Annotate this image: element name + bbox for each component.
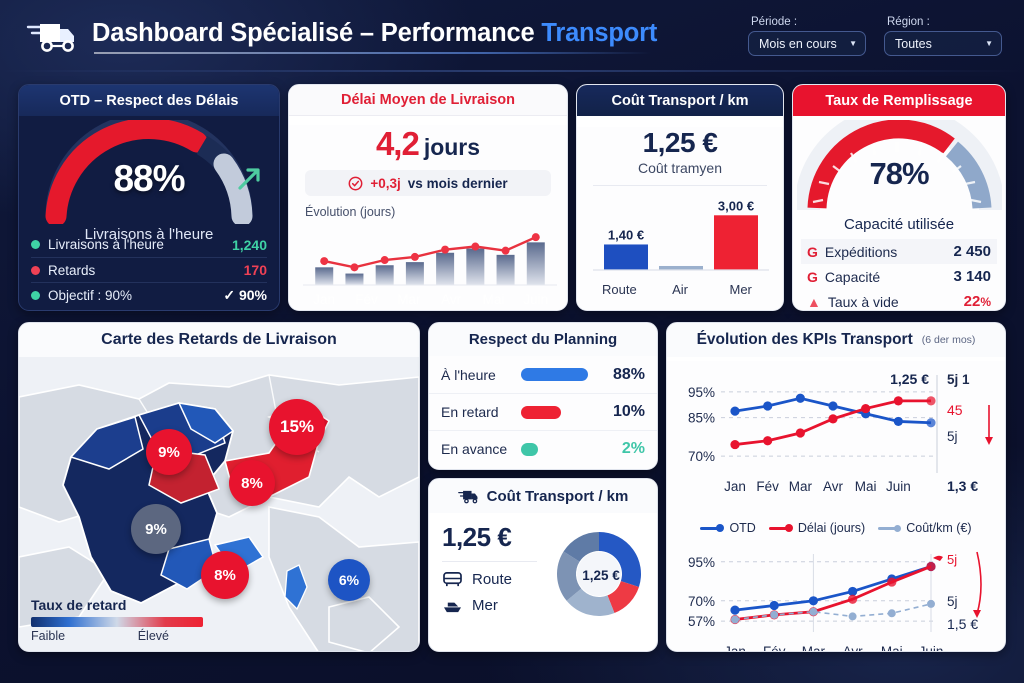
map-marker[interactable]: 15% [269,399,325,455]
divider [593,185,767,186]
legend-dot [785,524,793,532]
planning-card-title: Respect du Planning [429,323,657,356]
planning-progress-fill [521,443,538,456]
planning-progress-track [521,443,597,456]
map-marker[interactable]: 9% [146,429,192,475]
map-marker[interactable]: 8% [229,460,275,506]
list-item: G Expéditions 2 450 [801,239,997,264]
truck-icon [26,16,82,56]
delai-mini-chart [303,221,555,291]
dashboard-root: Dashboard Spécialisé – Performance Trans… [0,0,1024,683]
svg-text:3,00 €: 3,00 € [718,198,754,213]
map-marker-value: 9% [145,521,167,538]
planning-progress-fill [521,406,561,419]
delai-x-axis: Jan Fév Mar Avr Mai Juin [303,292,557,307]
cout-value: 1,25 € [577,127,783,159]
evolution-card-title-text: Évolution des KPIs Transport [697,331,913,349]
planning-card: Respect du Planning À l'heure 88% En ret… [428,322,658,470]
map-legend-low: Faible [31,629,65,643]
map-card-title: Carte des Retards de Livraison [19,323,419,357]
svg-text:Jan: Jan [724,479,746,494]
map-card: Carte des Retards de Livraison [18,322,420,652]
x-tick: Mar [388,292,430,307]
legend-item-otd: OTD [700,521,755,535]
remplissage-gauge-value-group: 78% [793,156,1005,192]
capacity-icon: G [807,269,818,285]
x-tick: Mer [710,282,771,297]
map-legend-gradient [31,617,203,627]
evolution-top-chart: 70%85%95%JanFévMarAvrMaiJuin1,25 €5j 145… [671,361,999,518]
svg-text:5j: 5j [947,552,957,567]
x-tick: Air [650,282,711,297]
list-item: Livraisons à l'heure 1,240 [31,232,267,257]
map-marker-value: 8% [214,567,236,584]
delai-delta-text: vs mois dernier [408,176,508,191]
list-item: G Capacité 3 140 [801,264,997,289]
map-legend: Taux de retard Faible Élevé [31,597,203,643]
x-tick: Juin [515,292,557,307]
x-tick: Fév [345,292,387,307]
evolution-card: Évolution des KPIs Transport (6 der mos)… [666,322,1006,652]
kpi-card-remplissage: Taux de Remplissage [792,84,1006,311]
svg-text:1,3 €: 1,3 € [947,478,978,494]
otd-row-label: Livraisons à l'heure [48,237,232,252]
cout-donut-center-label: 1,25 € [545,568,657,583]
cout-donut-card: Coût Transport / km 1,25 € Route [428,478,658,652]
divider [442,561,537,562]
cout-donut-card-title: Coût Transport / km [429,479,657,513]
list-item: Mer [442,597,545,614]
filter-region: Région : Toutes ▼ [884,16,1002,56]
planning-row-label: En retard [441,404,521,420]
planning-progress-track [521,368,597,381]
svg-text:Avr: Avr [843,644,864,652]
svg-text:Mai: Mai [881,644,903,652]
svg-text:Fév: Fév [756,479,779,494]
x-tick: Mai [472,292,514,307]
planning-row-label: À l'heure [441,367,521,383]
remplissage-gauge-percent-symbol: % [902,156,929,191]
map-marker[interactable]: 6% [328,559,370,601]
otd-row-value: 1,240 [232,237,267,253]
cout-x-axis: Route Air Mer [589,282,771,297]
svg-text:Juin: Juin [919,644,944,652]
x-tick: Route [589,282,650,297]
periode-select-value: Mois en cours [759,37,837,51]
kpi-card-otd-title: OTD – Respect des Délais [19,85,279,116]
map-marker[interactable]: 8% [201,551,249,599]
truck-icon [458,488,480,504]
svg-text:Mar: Mar [789,479,813,494]
svg-text:Avr: Avr [823,479,844,494]
otd-metrics-list: Livraisons à l'heure 1,240 Retards 170 O… [31,232,267,307]
planning-row-value: 2% [597,440,645,458]
bus-icon [442,571,463,588]
delai-chart-label: Évolution (jours) [305,205,567,219]
status-dot-icon [31,240,40,249]
otd-row-value: ✓ 90% [223,287,267,304]
legend-dot [716,524,724,532]
remplissage-metrics-list: G Expéditions 2 450 G Capacité 3 140 ▲ T… [801,239,997,311]
header-divider [0,70,1024,72]
list-item: Objectif : 90% ✓ 90% [31,282,267,307]
evolution-legend: OTD Délai (jours) Coût/km (€) [667,518,1005,536]
svg-text:Fév: Fév [763,644,786,652]
periode-select[interactable]: Mois en cours ▼ [748,31,866,56]
otd-gauge-percent-symbol: % [153,158,185,199]
svg-text:5j: 5j [947,429,958,444]
mode-label: Route [472,571,512,588]
svg-text:Mar: Mar [802,644,826,652]
chevron-down-icon: ▼ [985,39,993,48]
planning-row-label: En avance [441,441,521,457]
otd-gauge: 88% [19,120,279,224]
remplissage-row-label: Taux à vide [828,294,964,310]
delai-value: 4,2 [376,125,419,162]
filter-region-label: Région : [884,16,1002,28]
svg-text:5j: 5j [947,594,958,609]
remplissage-row-value: 22 [964,293,981,310]
delai-delta-value: +0,3j [370,176,400,191]
remplissage-row-label: Expéditions [825,244,954,260]
shipment-icon: G [807,244,818,260]
cout-bar-chart: 1,40 €3,00 € [593,190,767,282]
svg-text:57%: 57% [688,614,715,629]
list-item: Route [442,571,545,588]
list-item: Retards 170 [31,257,267,282]
svg-text:1,40 €: 1,40 € [608,227,644,242]
delai-delta-badge: +0,3j vs mois dernier [305,170,551,196]
legend-label: Coût/km (€) [906,521,971,535]
svg-text:1,5 €: 1,5 € [947,616,978,632]
page-title: Dashboard Spécialisé – Performance Trans… [92,19,657,54]
remplissage-row-value: 3 140 [953,268,991,285]
svg-text:85%: 85% [688,411,715,426]
remplissage-row-value: 2 450 [953,243,991,260]
x-tick: Jan [303,292,345,307]
page-title-accent: Transport [541,19,657,47]
svg-text:70%: 70% [688,449,715,464]
map-marker-value: 9% [158,444,180,461]
title-underline [94,52,651,54]
page-title-main: Dashboard Spécialisé – Performance [92,19,541,47]
evolution-bottom-chart: 57%70%95%JanFévMarAvrMaiJuin5j5j1,5 € [671,540,999,652]
mode-label: Mer [472,597,498,614]
cout-donut-title-text: Coût Transport / km [487,488,629,505]
header-filters: Période : Mois en cours ▼ Région : Toute… [748,16,1010,56]
check-circle-icon [348,176,363,191]
kpi-card-delai: Délai Moyen de Livraison 4,2jours +0,3j … [288,84,568,311]
otd-gauge-value: 88 [113,158,152,199]
list-item: En retard 10% [429,393,657,430]
x-tick: Avr [430,292,472,307]
planning-progress-fill [521,368,588,381]
france-delay-map[interactable]: 9% 15% 8% 9% 8% 6% Taux de retard Faible… [19,357,419,651]
map-marker[interactable]: 9% [131,504,181,554]
svg-text:Juin: Juin [886,479,911,494]
status-dot-icon [31,291,40,300]
legend-label: Délai (jours) [798,521,865,535]
cout-subtitle: Coût tramyen [577,160,783,176]
svg-text:Mai: Mai [855,479,877,494]
planning-row-value: 88% [597,366,645,384]
triangle-up-icon: ▲ [807,294,821,310]
remplissage-gauge-value: 78 [869,156,901,191]
region-select[interactable]: Toutes ▼ [884,31,1002,56]
filter-periode-label: Période : [748,16,866,28]
kpi-card-remplissage-title: Taux de Remplissage [793,85,1005,116]
otd-row-label: Objectif : 90% [48,288,223,303]
filter-periode: Période : Mois en cours ▼ [748,16,866,56]
list-item: En avance 2% [429,430,657,467]
kpi-card-cout-title: Coût Transport / km [577,85,783,116]
otd-row-value: 170 [244,262,267,278]
cout-donut-chart: 1,25 € [545,513,657,651]
map-legend-high: Élevé [138,629,169,643]
chevron-down-icon: ▼ [849,39,857,48]
list-item: ▲ Taux à vide 22% [801,289,997,311]
planning-row-value: 10% [597,403,645,421]
list-item: À l'heure 88% [429,356,657,393]
cout-donut-value: 1,25 € [442,522,545,553]
kpi-card-delai-title: Délai Moyen de Livraison [289,85,567,116]
evolution-card-title: Évolution des KPIs Transport (6 der mos) [667,323,1005,357]
svg-text:5j 1: 5j 1 [947,372,970,387]
legend-item-cout: Coût/km (€) [878,521,971,535]
remplissage-row-label: Capacité [825,269,954,285]
kpi-card-cout: Coût Transport / km 1,25 € Coût tramyen … [576,84,784,311]
legend-item-delai: Délai (jours) [769,521,865,535]
remplissage-row-suffix: % [980,295,991,309]
remplissage-gauge: 78% [793,120,1005,216]
remplissage-gauge-caption: Capacité utilisée [793,216,1005,233]
legend-label: OTD [729,521,755,535]
svg-text:95%: 95% [688,385,715,400]
map-marker-value: 8% [241,475,263,492]
kpi-card-otd: OTD – Respect des Délais 88% Livraisons … [18,84,280,311]
svg-text:45: 45 [947,402,963,418]
delai-value-group: 4,2jours [289,125,567,163]
region-select-value: Toutes [895,37,932,51]
map-legend-title: Taux de retard [31,597,203,613]
otd-row-label: Retards [48,263,244,278]
trend-up-arrow-icon [235,164,265,194]
svg-text:70%: 70% [688,594,715,609]
map-marker-value: 15% [280,417,314,437]
svg-text:95%: 95% [688,555,715,570]
svg-text:Jan: Jan [724,644,746,652]
legend-dot [894,525,901,532]
delai-unit: jours [424,134,480,160]
ship-icon [442,597,463,614]
map-marker-value: 6% [339,572,359,588]
evolution-card-note: (6 der mos) [922,334,976,346]
app-header: Dashboard Spécialisé – Performance Trans… [0,0,1024,72]
planning-progress-track [521,406,597,419]
status-dot-icon [31,266,40,275]
svg-text:1,25 €: 1,25 € [890,371,929,387]
